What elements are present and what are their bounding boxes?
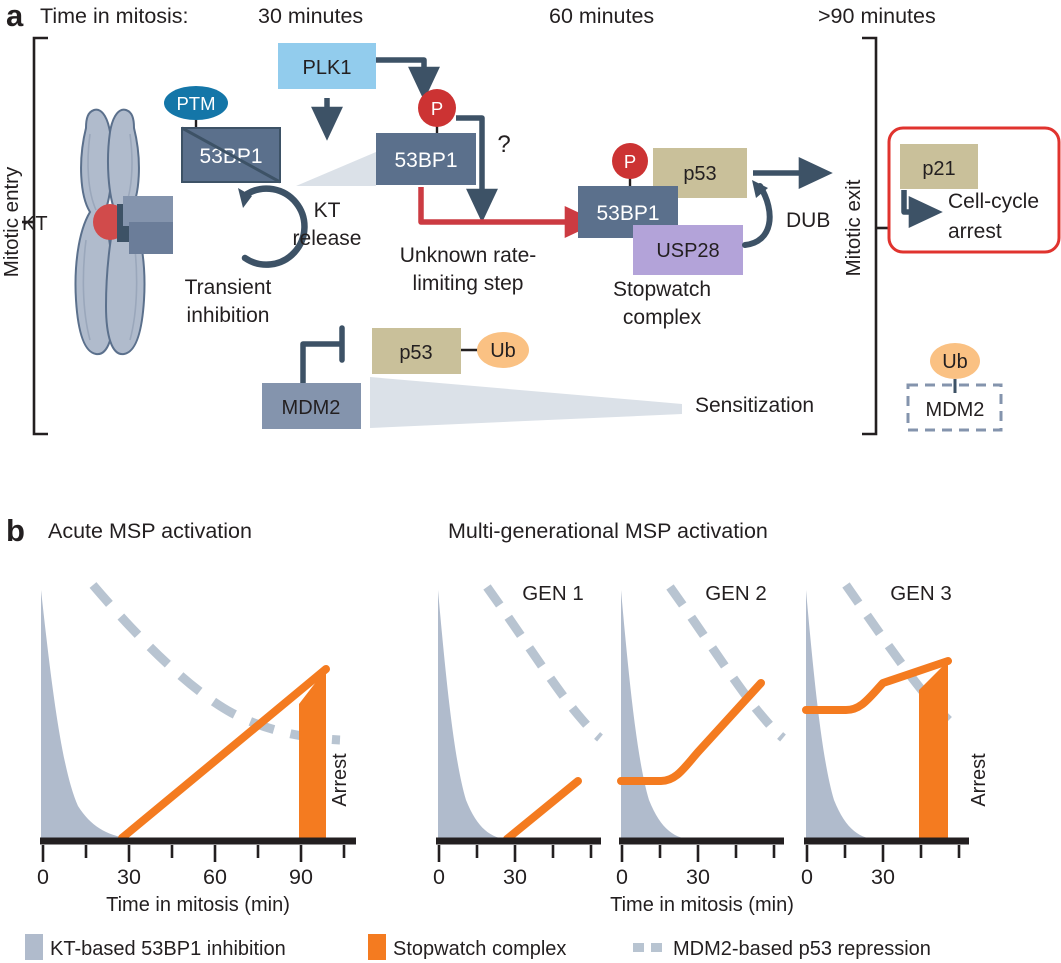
multigen-x-axis-title: Time in mitosis (min) [610, 894, 794, 916]
ub-label: Ub [490, 340, 516, 362]
kt-label: KT [22, 213, 48, 235]
timepoint-90min: >90 minutes [818, 4, 936, 28]
timepoint-30min: 30 minutes [258, 4, 363, 28]
legend-swatch-stopwatch [368, 934, 386, 960]
transient-inhibition-line1: Transient [185, 276, 272, 299]
acute-title: Acute MSP activation [48, 519, 252, 543]
acute-tick-60: 60 [203, 865, 227, 889]
unknown-step-line1: Unknown rate- [400, 244, 537, 267]
gen3-arrest-label: Arrest [968, 753, 990, 807]
phospho-label: P [431, 98, 443, 119]
gen2-label: GEN 2 [705, 582, 767, 605]
legend-label-kt: KT-based 53BP1 inhibition [50, 938, 286, 960]
legend: KT-based 53BP1 inhibition Stopwatch comp… [25, 934, 931, 960]
question-mark-label: ? [497, 131, 510, 158]
gen3-label: GEN 3 [890, 582, 952, 605]
mitotic-exit-label: Mitotic exit [842, 179, 865, 276]
acute-tick-0: 0 [37, 865, 49, 889]
ub-exit-label: Ub [942, 351, 968, 373]
phospho-complex-label: P [624, 151, 636, 172]
dub-label: DUB [786, 209, 830, 232]
gen1-tick-30: 30 [503, 865, 527, 889]
stopwatch-line1: Stopwatch [613, 278, 711, 301]
p53-complex-label: p53 [683, 163, 716, 185]
mdm2-exit-label: MDM2 [926, 399, 985, 421]
timeline-label: Time in mitosis: [40, 4, 189, 28]
node-plk1: PLK1 [278, 43, 376, 89]
kt-release-line2: release [293, 227, 362, 250]
acute-tick-90: 90 [289, 865, 313, 889]
gen3-tick-30: 30 [871, 865, 895, 889]
cell-cycle-arrest-line1: Cell-cycle [948, 190, 1039, 213]
gen1-tick-0: 0 [433, 865, 445, 889]
kt-release-line1: KT [314, 199, 341, 222]
legend-swatch-kt [25, 934, 43, 960]
unknown-step-line2: limiting step [413, 272, 524, 295]
timepoint-60min: 60 minutes [549, 4, 654, 28]
panel-b-letter: b [6, 513, 25, 548]
mitotic-entry-label: Mitotic entry [0, 166, 23, 277]
53bp1-complex-label: 53BP1 [596, 202, 659, 225]
acute-arrest-label: Arrest [329, 753, 351, 807]
cell-cycle-arrest-line2: arrest [948, 220, 1002, 243]
p21-label: p21 [922, 158, 955, 180]
gen1-label: GEN 1 [522, 582, 584, 605]
acute-x-axis-title: Time in mitosis (min) [106, 894, 290, 916]
transient-inhibition-line2: inhibition [187, 304, 270, 327]
sensitization-label: Sensitization [695, 394, 814, 417]
legend-label-mdm2: MDM2-based p53 repression [673, 938, 931, 960]
legend-label-stopwatch: Stopwatch complex [393, 938, 566, 960]
usp28-label: USP28 [656, 240, 719, 262]
mdm2-label: MDM2 [282, 397, 341, 419]
stopwatch-line2: complex [623, 306, 702, 329]
plk1-label: PLK1 [303, 57, 352, 79]
ptm-label: PTM [176, 93, 215, 114]
gen3-arrest-band [919, 690, 948, 840]
panel-a-letter: a [6, 0, 24, 33]
gen3-tick-0: 0 [801, 865, 813, 889]
p53-mdm2-label: p53 [399, 342, 432, 364]
53bp1-phospho-label: 53BP1 [394, 149, 457, 172]
acute-arrest-band [299, 704, 326, 840]
figure-root: a Time in mitosis: 30 minutes 60 minutes… [0, 0, 1061, 963]
gen2-tick-0: 0 [616, 865, 628, 889]
multigen-title: Multi-generational MSP activation [448, 519, 768, 543]
acute-tick-30: 30 [117, 865, 141, 889]
gen2-tick-30: 30 [686, 865, 710, 889]
